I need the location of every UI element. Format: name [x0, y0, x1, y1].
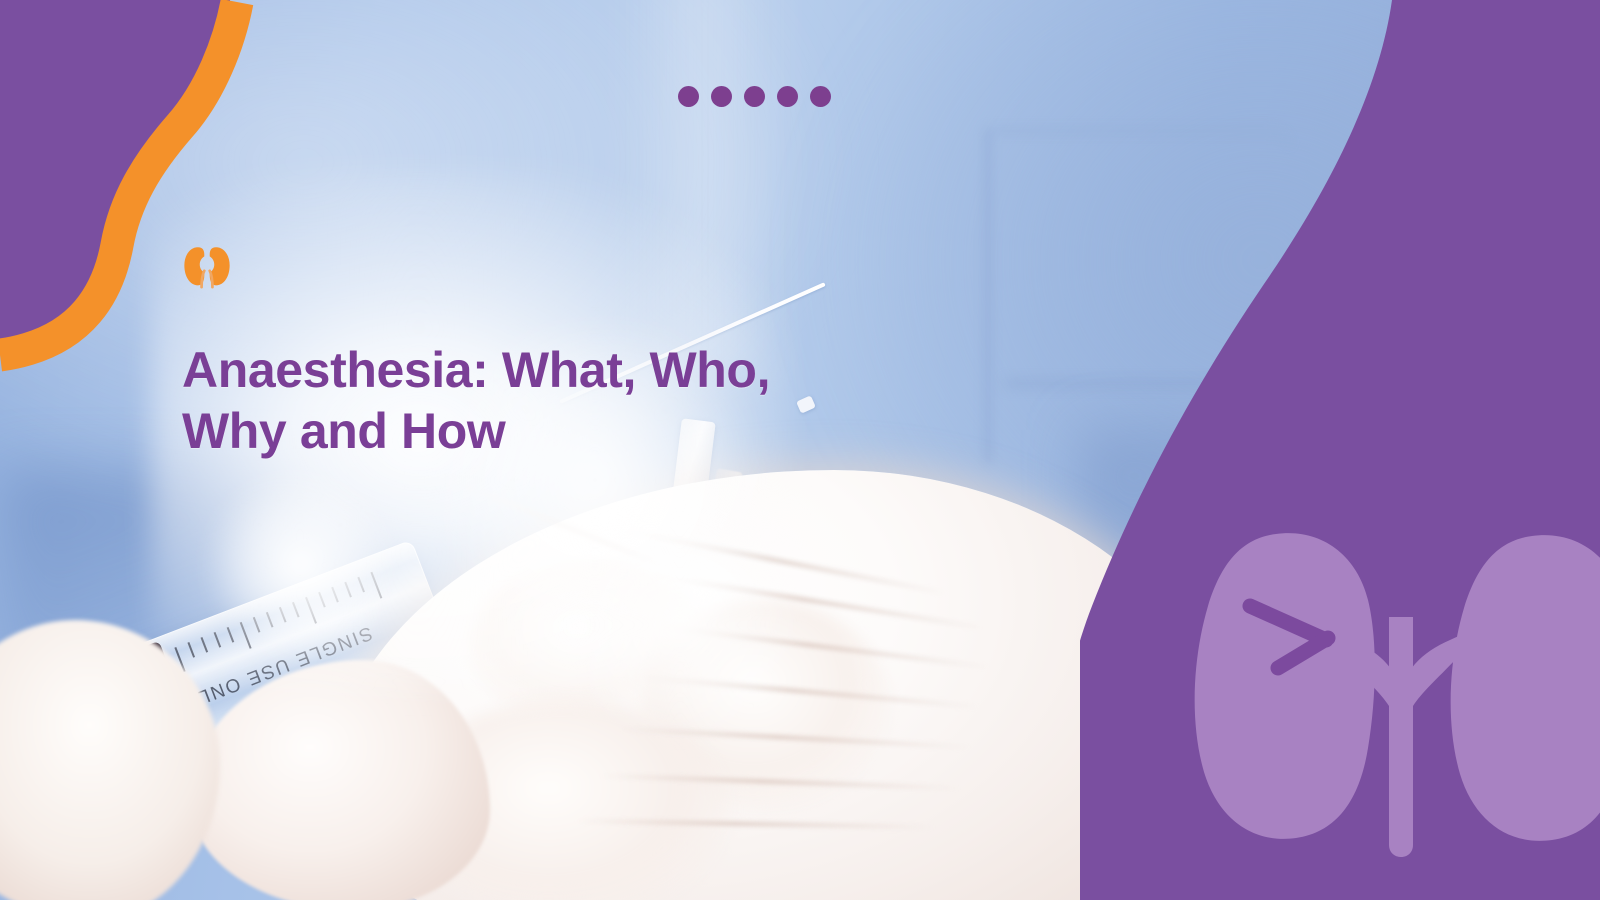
scrubs-pocket-seam-lower: [1005, 380, 1270, 387]
decoration-dot: [744, 86, 765, 107]
photo-glow: [560, 520, 800, 730]
decoration-dot: [711, 86, 732, 107]
page-title-line-1: Anaesthesia: What, Who,: [182, 342, 770, 398]
decoration-dot: [810, 86, 831, 107]
page-title-line-2: Why and How: [182, 403, 505, 459]
page-title: Anaesthesia: What, Who, Why and How: [182, 340, 912, 462]
dot-row-decoration: [678, 86, 831, 107]
decoration-dot: [777, 86, 798, 107]
anaesthesia-banner: SINGLE USE ONLY 3: [0, 0, 1600, 900]
scrubs-pocket-seam: [985, 128, 1291, 464]
photo-glow: [205, 470, 395, 660]
decoration-dot: [678, 86, 699, 107]
kidneys-icon: [178, 240, 236, 298]
